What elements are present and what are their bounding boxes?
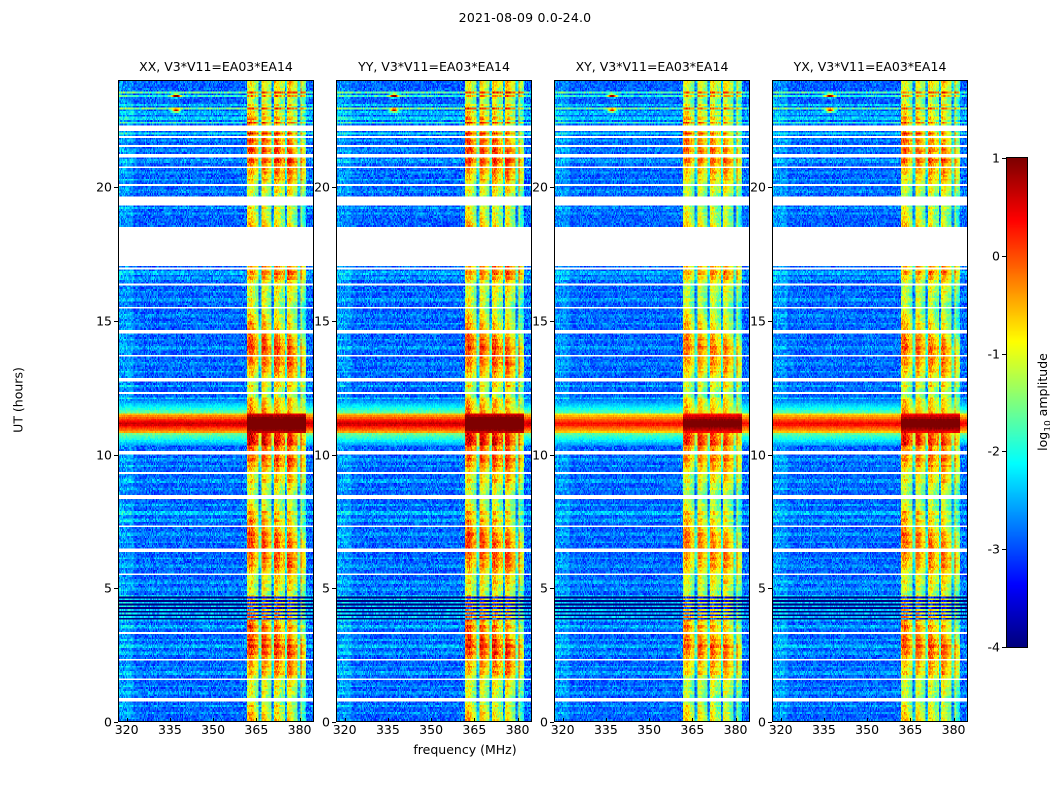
y-tick-label: 5 (758, 581, 766, 596)
y-tick-label: 20 (314, 180, 330, 195)
x-tick-mark (345, 718, 346, 722)
colorbar-tick-mark (1002, 549, 1007, 550)
x-tick-mark (431, 718, 432, 722)
y-tick-label: 0 (758, 715, 766, 730)
y-tick-label: 20 (96, 180, 112, 195)
y-axis-label: UT (hours) (11, 367, 26, 433)
figure-suptitle: 2021-08-09 0.0-24.0 (0, 10, 1050, 25)
colorbar-label: log10 amplitude (1035, 353, 1050, 451)
panel-yy[interactable]: YY, V3*V11=EA03*EA14 05101520 3203353503… (336, 80, 532, 722)
x-tick-mark (781, 718, 782, 722)
x-tick-mark (606, 718, 607, 722)
x-tick-label: 335 (158, 722, 182, 737)
y-tick-label: 20 (532, 180, 548, 195)
y-axis-ticks-yy: 05101520 (296, 80, 336, 722)
y-axis-ticks-xy: 05101520 (514, 80, 554, 722)
x-tick-mark (649, 718, 650, 722)
y-tick-mark (114, 588, 118, 589)
x-tick-label: 350 (855, 722, 879, 737)
y-tick-label: 15 (532, 313, 548, 328)
x-tick-mark (474, 718, 475, 722)
colorbar-label-tail: amplitude (1035, 353, 1050, 420)
y-tick-label: 10 (96, 447, 112, 462)
y-tick-label: 10 (750, 447, 766, 462)
y-tick-label: 0 (540, 715, 548, 730)
colorbar-tick-mark (1002, 158, 1007, 159)
y-tick-mark (768, 588, 772, 589)
colorbar-label-sub: 10 (1043, 420, 1050, 431)
x-tick-label: 320 (333, 722, 357, 737)
y-tick-label: 5 (104, 581, 112, 596)
x-tick-label: 335 (376, 722, 400, 737)
y-tick-mark (332, 455, 336, 456)
y-tick-label: 15 (314, 313, 330, 328)
x-tick-label: 380 (288, 722, 312, 737)
y-tick-label: 5 (322, 581, 330, 596)
x-tick-label: 380 (724, 722, 748, 737)
y-tick-mark (332, 187, 336, 188)
y-axis-ticks-xx: 05101520 (78, 80, 118, 722)
x-tick-label: 320 (769, 722, 793, 737)
panel-xx[interactable]: XX, V3*V11=EA03*EA14 05101520 3203353503… (118, 80, 314, 722)
y-tick-mark (550, 455, 554, 456)
y-tick-mark (332, 588, 336, 589)
panel-title-yx: YX, V3*V11=EA03*EA14 (794, 59, 947, 74)
axes-yx[interactable] (772, 80, 968, 722)
x-tick-mark (213, 718, 214, 722)
panel-yx[interactable]: YX, V3*V11=EA03*EA14 05101520 3203353503… (772, 80, 968, 722)
colorbar-tick-mark (1002, 647, 1007, 648)
x-tick-label: 350 (637, 722, 661, 737)
x-tick-label: 365 (462, 722, 486, 737)
x-tick-label: 365 (244, 722, 268, 737)
x-tick-mark (824, 718, 825, 722)
y-tick-mark (114, 187, 118, 188)
dynamic-spectrum-yx[interactable] (773, 81, 967, 721)
y-tick-mark (768, 187, 772, 188)
dynamic-spectrum-xx[interactable] (119, 81, 313, 721)
y-tick-mark (768, 321, 772, 322)
colorbar-tick-mark (1002, 451, 1007, 452)
panel-xy[interactable]: XY, V3*V11=EA03*EA14 05101520 3203353503… (554, 80, 750, 722)
x-tick-label: 365 (898, 722, 922, 737)
x-axis-ticks-yy: 320335350365380 (336, 722, 532, 752)
colorbar-tick-mark (1002, 256, 1007, 257)
y-tick-label: 10 (314, 447, 330, 462)
x-tick-label: 320 (115, 722, 139, 737)
x-axis-ticks-xx: 320335350365380 (118, 722, 314, 752)
y-tick-label: 15 (750, 313, 766, 328)
x-tick-mark (127, 718, 128, 722)
axes-xx[interactable] (118, 80, 314, 722)
x-tick-label: 380 (506, 722, 530, 737)
y-tick-mark (332, 321, 336, 322)
x-tick-label: 350 (201, 722, 225, 737)
x-axis-ticks-yx: 320335350365380 (772, 722, 968, 752)
x-tick-label: 350 (419, 722, 443, 737)
x-tick-mark (954, 718, 955, 722)
x-tick-mark (256, 718, 257, 722)
x-tick-mark (692, 718, 693, 722)
x-tick-mark (388, 718, 389, 722)
y-tick-mark (550, 588, 554, 589)
x-tick-mark (563, 718, 564, 722)
y-tick-label: 5 (540, 581, 548, 596)
y-tick-label: 0 (104, 715, 112, 730)
y-tick-label: 20 (750, 180, 766, 195)
y-tick-mark (550, 321, 554, 322)
x-tick-label: 320 (551, 722, 575, 737)
y-axis-ticks-yx: 05101520 (732, 80, 772, 722)
dynamic-spectrum-xy[interactable] (555, 81, 749, 721)
figure-canvas: 2021-08-09 0.0-24.0 UT (hours) frequency… (0, 0, 1050, 800)
x-tick-label: 335 (812, 722, 836, 737)
dynamic-spectrum-yy[interactable] (337, 81, 531, 721)
colorbar[interactable]: 10-1-2-3-4 (1006, 157, 1028, 648)
colorbar-label-main: log (1035, 432, 1050, 451)
x-tick-label: 380 (942, 722, 966, 737)
y-tick-label: 10 (532, 447, 548, 462)
x-tick-mark (867, 718, 868, 722)
x-tick-mark (910, 718, 911, 722)
y-tick-mark (114, 455, 118, 456)
axes-yy[interactable] (336, 80, 532, 722)
panel-title-xy: XY, V3*V11=EA03*EA14 (576, 59, 729, 74)
panel-title-yy: YY, V3*V11=EA03*EA14 (358, 59, 510, 74)
y-tick-mark (768, 455, 772, 456)
x-tick-label: 365 (680, 722, 704, 737)
x-axis-ticks-xy: 320335350365380 (554, 722, 750, 752)
y-tick-mark (550, 187, 554, 188)
x-tick-mark (170, 718, 171, 722)
axes-xy[interactable] (554, 80, 750, 722)
colorbar-tick-mark (1002, 354, 1007, 355)
panel-title-xx: XX, V3*V11=EA03*EA14 (139, 59, 293, 74)
y-tick-mark (114, 321, 118, 322)
y-tick-label: 15 (96, 313, 112, 328)
y-tick-label: 0 (322, 715, 330, 730)
x-tick-label: 335 (594, 722, 618, 737)
